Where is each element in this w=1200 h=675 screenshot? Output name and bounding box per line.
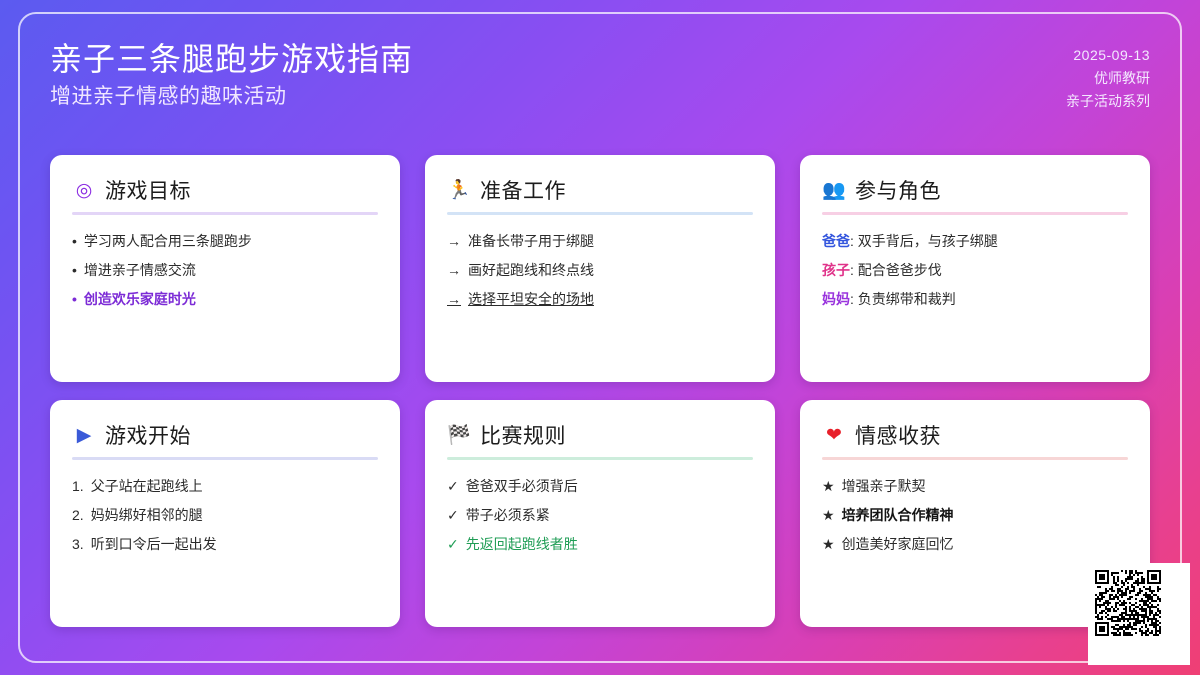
list-marker: → xyxy=(447,230,461,253)
list-item-text: 选择平坦安全的场地 xyxy=(468,288,594,311)
card-title: 情感收获 xyxy=(855,420,941,450)
role-row: 孩子: 配合爸爸步伐 xyxy=(822,259,1128,282)
slide-header: 亲子三条腿跑步游戏指南 增进亲子情感的趣味活动 2025-09-13 优师教研 … xyxy=(50,38,1150,142)
role-name: 妈妈 xyxy=(822,291,850,307)
card-list: →准备长带子用于绑腿→画好起跑线和终点线→选择平坦安全的场地 xyxy=(447,230,753,311)
list-item: •增进亲子情感交流 xyxy=(72,259,378,282)
list-item: ✓先返回起跑线者胜 xyxy=(447,533,753,556)
card-title: 游戏开始 xyxy=(105,420,191,450)
list-marker: ★ xyxy=(822,504,835,527)
list-item-text: 准备长带子用于绑腿 xyxy=(468,230,594,253)
role-description: : 配合爸爸步伐 xyxy=(850,262,942,278)
list-marker: • xyxy=(72,230,77,253)
list-item-text: 带子必须系紧 xyxy=(466,504,550,527)
qr-code[interactable] xyxy=(1088,563,1190,665)
list-marker: ★ xyxy=(822,533,835,556)
card-header: ▶游戏开始 xyxy=(72,420,378,450)
list-marker: 3. xyxy=(72,533,84,556)
card-header: 🏃准备工作 xyxy=(447,175,753,205)
list-item-text: 增强亲子默契 xyxy=(842,475,926,498)
runner-icon: 🏃 xyxy=(447,178,471,202)
role-row: 妈妈: 负责绑带和裁判 xyxy=(822,288,1128,311)
card-list: 1.父子站在起跑线上2.妈妈绑好相邻的腿3.听到口令后一起出发 xyxy=(72,475,378,556)
list-marker: • xyxy=(72,288,77,311)
list-item: •创造欢乐家庭时光 xyxy=(72,288,378,311)
card-title: 比赛规则 xyxy=(480,420,566,450)
card-rules: 🏁比赛规则✓爸爸双手必须背后✓带子必须系紧✓先返回起跑线者胜 xyxy=(425,400,775,627)
card-preparation: 🏃准备工作→准备长带子用于绑腿→画好起跑线和终点线→选择平坦安全的场地 xyxy=(425,155,775,382)
list-item: 3.听到口令后一起出发 xyxy=(72,533,378,556)
card-header: ◎游戏目标 xyxy=(72,175,378,205)
card-accent-rule xyxy=(822,212,1128,215)
people-group-icon: 👥 xyxy=(822,178,846,202)
card-goals: ◎游戏目标•学习两人配合用三条腿跑步•增进亲子情感交流•创造欢乐家庭时光 xyxy=(50,155,400,382)
card-header: 👥参与角色 xyxy=(822,175,1128,205)
list-item-text: 学习两人配合用三条腿跑步 xyxy=(84,230,252,253)
list-marker: 1. xyxy=(72,475,84,498)
card-accent-rule xyxy=(447,212,753,215)
card-accent-rule xyxy=(447,457,753,460)
page-title: 亲子三条腿跑步游戏指南 xyxy=(50,38,413,80)
card-grid: ◎游戏目标•学习两人配合用三条腿跑步•增进亲子情感交流•创造欢乐家庭时光🏃准备工… xyxy=(50,155,1150,627)
list-item: →选择平坦安全的场地 xyxy=(447,288,753,311)
list-item-text: 先返回起跑线者胜 xyxy=(466,533,578,556)
list-marker: • xyxy=(72,259,77,282)
target-icon: ◎ xyxy=(72,178,96,202)
list-item: 2.妈妈绑好相邻的腿 xyxy=(72,504,378,527)
list-item: →画好起跑线和终点线 xyxy=(447,259,753,282)
slide-root: 亲子三条腿跑步游戏指南 增进亲子情感的趣味活动 2025-09-13 优师教研 … xyxy=(0,0,1200,675)
checkered-flag-icon: 🏁 xyxy=(447,423,471,447)
list-marker: ✓ xyxy=(447,504,459,527)
meta-org: 优师教研 xyxy=(1066,67,1150,90)
card-title: 参与角色 xyxy=(855,175,941,205)
list-item: ★创造美好家庭回忆 xyxy=(822,533,1128,556)
header-meta: 2025-09-13 优师教研 亲子活动系列 xyxy=(1066,44,1150,113)
card-accent-rule xyxy=(822,457,1128,460)
meta-series: 亲子活动系列 xyxy=(1066,90,1150,113)
card-list: •学习两人配合用三条腿跑步•增进亲子情感交流•创造欢乐家庭时光 xyxy=(72,230,378,311)
card-header: 🏁比赛规则 xyxy=(447,420,753,450)
role-list: 爸爸: 双手背后，与孩子绑腿孩子: 配合爸爸步伐妈妈: 负责绑带和裁判 xyxy=(822,230,1128,311)
list-item: ✓爸爸双手必须背后 xyxy=(447,475,753,498)
role-name: 孩子 xyxy=(822,262,850,278)
list-item-text: 创造美好家庭回忆 xyxy=(842,533,954,556)
list-item: ✓带子必须系紧 xyxy=(447,504,753,527)
list-item-text: 创造欢乐家庭时光 xyxy=(84,288,196,311)
list-item-text: 爸爸双手必须背后 xyxy=(466,475,578,498)
list-marker: ✓ xyxy=(447,533,459,556)
list-item: •学习两人配合用三条腿跑步 xyxy=(72,230,378,253)
card-accent-rule xyxy=(72,212,378,215)
list-marker: → xyxy=(447,288,461,311)
list-marker: ✓ xyxy=(447,475,459,498)
card-title: 准备工作 xyxy=(480,175,566,205)
list-item-text: 妈妈绑好相邻的腿 xyxy=(91,504,203,527)
list-item: 1.父子站在起跑线上 xyxy=(72,475,378,498)
role-row: 爸爸: 双手背后，与孩子绑腿 xyxy=(822,230,1128,253)
list-item-text: 父子站在起跑线上 xyxy=(91,475,203,498)
list-item: ★增强亲子默契 xyxy=(822,475,1128,498)
list-item-text: 画好起跑线和终点线 xyxy=(468,259,594,282)
play-circle-icon: ▶ xyxy=(72,423,96,447)
list-item: ★培养团队合作精神 xyxy=(822,504,1128,527)
list-marker: 2. xyxy=(72,504,84,527)
list-marker: → xyxy=(447,259,461,282)
role-description: : 双手背后，与孩子绑腿 xyxy=(850,233,998,249)
page-subtitle: 增进亲子情感的趣味活动 xyxy=(50,80,413,114)
list-item-text: 听到口令后一起出发 xyxy=(91,533,217,556)
card-list: ★增强亲子默契★培养团队合作精神★创造美好家庭回忆 xyxy=(822,475,1128,556)
card-accent-rule xyxy=(72,457,378,460)
card-roles: 👥参与角色爸爸: 双手背后，与孩子绑腿孩子: 配合爸爸步伐妈妈: 负责绑带和裁判 xyxy=(800,155,1150,382)
meta-date: 2025-09-13 xyxy=(1066,44,1150,67)
card-game-start: ▶游戏开始1.父子站在起跑线上2.妈妈绑好相邻的腿3.听到口令后一起出发 xyxy=(50,400,400,627)
heart-icon: ❤ xyxy=(822,423,846,447)
role-description: : 负责绑带和裁判 xyxy=(850,291,956,307)
list-item: →准备长带子用于绑腿 xyxy=(447,230,753,253)
qr-code-image xyxy=(1095,570,1183,658)
card-title: 游戏目标 xyxy=(105,175,191,205)
role-name: 爸爸 xyxy=(822,233,850,249)
card-header: ❤情感收获 xyxy=(822,420,1128,450)
title-block: 亲子三条腿跑步游戏指南 增进亲子情感的趣味活动 xyxy=(50,38,413,114)
card-list: ✓爸爸双手必须背后✓带子必须系紧✓先返回起跑线者胜 xyxy=(447,475,753,556)
list-marker: ★ xyxy=(822,475,835,498)
list-item-text: 增进亲子情感交流 xyxy=(84,259,196,282)
list-item-text: 培养团队合作精神 xyxy=(842,504,954,527)
